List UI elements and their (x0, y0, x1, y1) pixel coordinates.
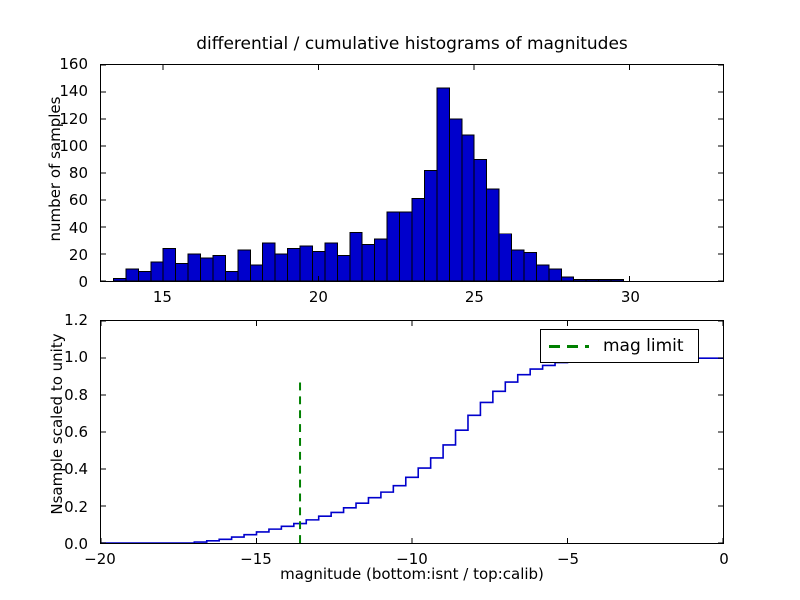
bottom-ytick-5: 1.0 (0, 348, 88, 366)
bottom-ytick-1: 0.2 (0, 498, 88, 516)
histogram-bar (387, 212, 399, 281)
top-ytick-2: 40 (0, 219, 88, 237)
top-ytick-8: 160 (0, 55, 88, 73)
histogram-bar (151, 262, 163, 281)
top-xtick-1: 20 (309, 288, 328, 306)
histogram-bar (437, 88, 449, 281)
differential-histogram-plot (101, 65, 723, 281)
histogram-bar (462, 135, 474, 281)
bottom-xtick-0: −20 (84, 550, 116, 568)
bottom-ytick-0: 0.0 (0, 535, 88, 553)
histogram-bar (561, 277, 573, 281)
figure-title: differential / cumulative histograms of … (100, 34, 724, 54)
histogram-bar (238, 250, 250, 281)
histogram-bar (201, 258, 213, 281)
top-ytick-5: 100 (0, 137, 88, 155)
histogram-bar (300, 246, 312, 281)
histogram-bar (599, 280, 611, 281)
legend-label-mag-limit: mag limit (603, 336, 688, 356)
histogram-bar (275, 254, 287, 281)
histogram-bar (375, 239, 387, 281)
figure-canvas: differential / cumulative histograms of … (0, 0, 800, 600)
differential-histogram-axes (100, 64, 724, 282)
bottom-xtick-3: −5 (557, 550, 579, 568)
histogram-bar (536, 265, 548, 281)
bottom-ytick-3: 0.6 (0, 423, 88, 441)
top-ytick-4: 80 (0, 164, 88, 182)
top-ytick-3: 60 (0, 191, 88, 209)
histogram-bar (487, 189, 499, 281)
histogram-bar (250, 265, 262, 281)
bottom-ytick-4: 0.8 (0, 386, 88, 404)
histogram-bar (188, 254, 200, 281)
histogram-bar (263, 243, 275, 281)
top-xtick-3: 30 (621, 288, 640, 306)
top-ytick-0: 0 (0, 273, 88, 291)
top-ytick-7: 140 (0, 82, 88, 100)
histogram-bar (549, 269, 561, 281)
histogram-bar (113, 278, 125, 281)
histogram-bar (138, 272, 150, 281)
top-ytick-1: 20 (0, 246, 88, 264)
histogram-bar (213, 255, 225, 281)
histogram-bar (611, 280, 623, 281)
histogram-bar (350, 232, 362, 281)
histogram-bar (288, 249, 300, 281)
bottom-xtick-1: −15 (240, 550, 272, 568)
legend-box: mag limit (540, 329, 699, 363)
top-ytick-6: 120 (0, 110, 88, 128)
histogram-bar (362, 245, 374, 281)
histogram-bar (400, 212, 412, 281)
bottom-xtick-2: −10 (396, 550, 428, 568)
histogram-bar (512, 250, 524, 281)
bottom-ytick-6: 1.2 (0, 311, 88, 329)
histogram-bar (524, 253, 536, 281)
top-xtick-0: 15 (153, 288, 172, 306)
cumulative-curve (101, 358, 723, 543)
histogram-bar (337, 255, 349, 281)
histogram-bar (325, 243, 337, 281)
bottom-xtick-4: 0 (719, 550, 729, 568)
histogram-bar (163, 249, 175, 281)
top-xtick-2: 25 (465, 288, 484, 306)
histogram-bar (586, 280, 598, 281)
histogram-bar (412, 199, 424, 281)
histogram-bar (225, 272, 237, 281)
histogram-bar (449, 119, 461, 281)
mag-limit-legend-swatch (549, 345, 589, 348)
histogram-bar (126, 269, 138, 281)
histogram-bar (474, 160, 486, 282)
bottom-ytick-2: 0.4 (0, 460, 88, 478)
histogram-bar (499, 234, 511, 281)
histogram-bar (424, 170, 436, 281)
histogram-bar (574, 280, 586, 281)
histogram-bar (176, 263, 188, 281)
